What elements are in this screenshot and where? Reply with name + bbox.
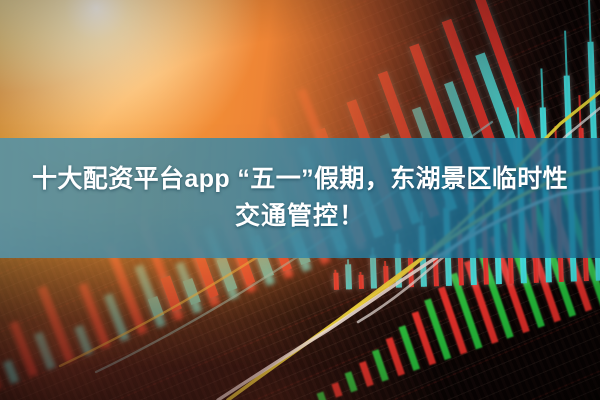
cover-image: 十大配资平台app “五一”假期，东湖景区临时性 交通管控！ [0, 0, 600, 400]
headline-banner-text: 十大配资平台app “五一”假期，东湖景区临时性 交通管控！ [0, 138, 600, 258]
headline-line-1: 十大配资平台app “五一”假期，东湖景区临时性 [32, 162, 568, 198]
headline-line-2: 交通管控！ [235, 199, 365, 235]
